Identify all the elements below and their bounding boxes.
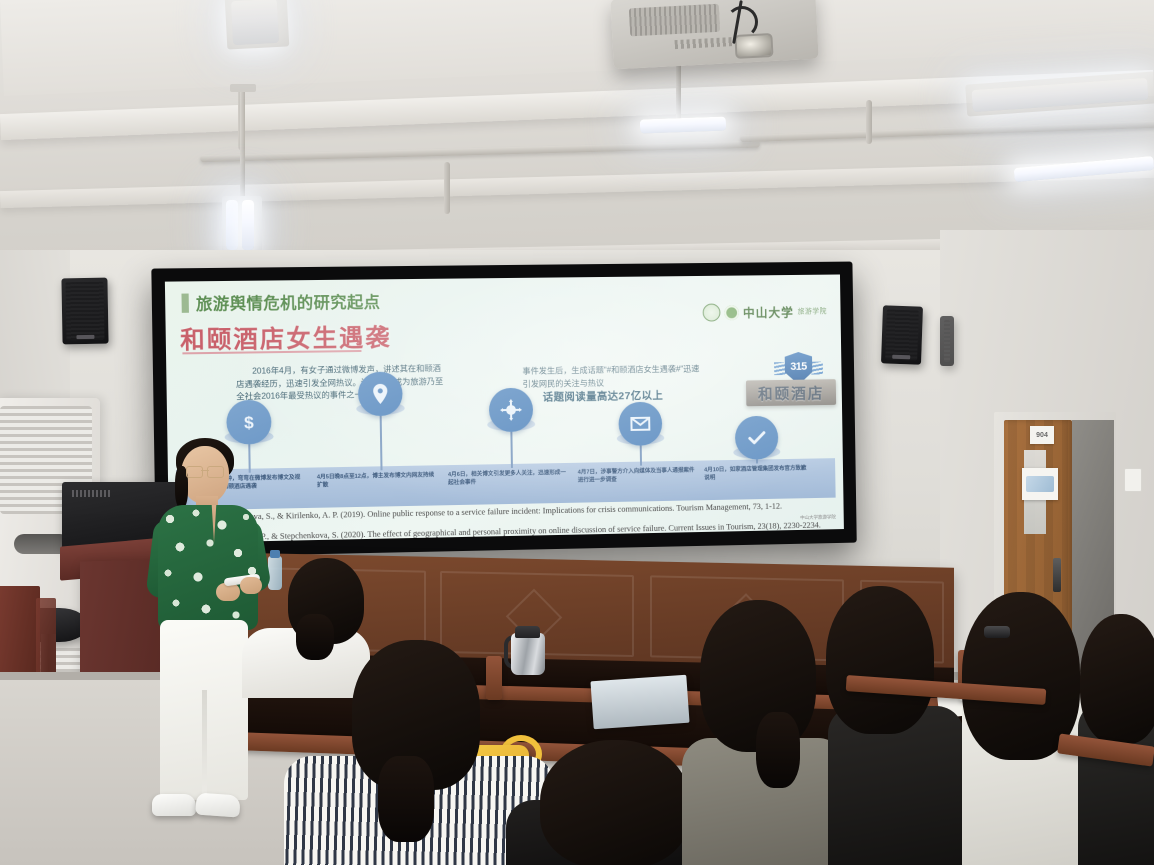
- ceiling-projector-icon: [610, 0, 818, 69]
- timeline-label-3: 4月6日，相关博文引发更多人关注，迅速形成一起社会事件: [448, 469, 568, 488]
- wall-speaker-left: [61, 278, 108, 345]
- badge-number: 315: [790, 360, 807, 372]
- ceiling-conduit: [740, 121, 1154, 143]
- projector-label: [675, 37, 737, 49]
- eyeglasses-icon: [186, 466, 224, 476]
- student-5-hair: [826, 586, 934, 734]
- student-4-ponytail: [756, 712, 800, 788]
- citation-2: Kirilenko, A. P., & Stepchenkova, S. (20…: [214, 519, 842, 543]
- presenter-blouse: [158, 505, 258, 630]
- poster-artwork: [1026, 476, 1054, 492]
- student-3-hair: [540, 740, 690, 865]
- conduit-drop: [866, 100, 872, 144]
- room-number-sign: 904: [1030, 426, 1054, 444]
- open-laptop: [590, 675, 689, 730]
- svg-text:$: $: [244, 413, 254, 432]
- timeline-label-5: 4月10日，如家酒店管理集团发布官方致歉说明: [704, 464, 812, 483]
- bench-post: [486, 656, 502, 700]
- hotel-name: 和颐酒店: [758, 382, 825, 404]
- timeline-node-4: [618, 402, 662, 466]
- door-poster: [1022, 468, 1058, 500]
- slide-paragraph-right: 事件发生后，生成话题"#和颐酒店女生遇袭#"迅速引发网民的关注与热议: [522, 363, 701, 391]
- seal-icon: [703, 304, 721, 322]
- university-name: 中山大学: [743, 303, 794, 320]
- timeline-label-2: 4月5日晚8点至12点，博主发布博文内网友持续扩散: [317, 471, 438, 490]
- presentation-slide: 旅游舆情危机的研究起点 和颐酒店女生遇袭 中山大学 旅游学院 2016年4月，有…: [165, 274, 844, 543]
- door-handle[interactable]: [1053, 558, 1061, 592]
- ceiling-beam: [0, 161, 1154, 208]
- student-1-ponytail: [296, 614, 334, 660]
- wall-speaker-right: [881, 305, 923, 364]
- school-name: 旅游学院: [798, 306, 827, 316]
- student-7-hair: [1080, 614, 1154, 744]
- floral-pattern: [158, 505, 258, 630]
- slide-watermark: 中山大学旅游学院: [800, 514, 836, 521]
- sunglasses-icon: [984, 626, 1010, 638]
- slide-accent-bar: [181, 294, 188, 313]
- lecture-room-photo: 旅游舆情危机的研究起点 和颐酒店女生遇袭 中山大学 旅游学院 2016年4月，有…: [0, 0, 1154, 865]
- trouser-seam: [202, 690, 207, 800]
- slide-kicker: 旅游舆情危机的研究起点: [196, 288, 381, 314]
- light-switch[interactable]: [1124, 468, 1142, 492]
- timeline-node-3: [489, 388, 534, 469]
- projector-vent: [629, 4, 720, 37]
- university-logo: 中山大学 旅游学院: [703, 302, 828, 321]
- leaf-icon: [724, 305, 739, 320]
- projector-cable: [726, 6, 758, 38]
- presenter-shoe-left: [152, 794, 196, 816]
- student-2-ponytail: [378, 756, 434, 842]
- thermos-body: [511, 633, 545, 675]
- water-bottle: [268, 556, 282, 590]
- presenter-shoe-right: [195, 792, 240, 817]
- timeline-label-4: 4月7日，涉事警方介入向媒体及当事人通报案件进行进一步调查: [578, 467, 697, 486]
- wing-icon: [811, 362, 823, 375]
- presenter-hand-right: [240, 577, 262, 594]
- conduit-drop: [444, 162, 450, 214]
- hotel-signage: 和颐酒店: [746, 379, 836, 406]
- timeline-node-5: [735, 416, 779, 464]
- slide-paragraph-left: 2016年4月，有女子通过微博发声，讲述其在和颐酒店遇袭经历，迅速引发全网热议。…: [236, 363, 449, 404]
- wall-speaker-right-side: [940, 316, 954, 366]
- monitor-brand-label: [72, 490, 110, 497]
- timeline-node-2: [358, 372, 404, 471]
- bottle-cap: [270, 550, 280, 558]
- wing-icon: [774, 362, 786, 375]
- ceiling-conduit: [200, 141, 760, 163]
- steel-thermos: [505, 623, 545, 675]
- thermos-lid: [515, 626, 540, 638]
